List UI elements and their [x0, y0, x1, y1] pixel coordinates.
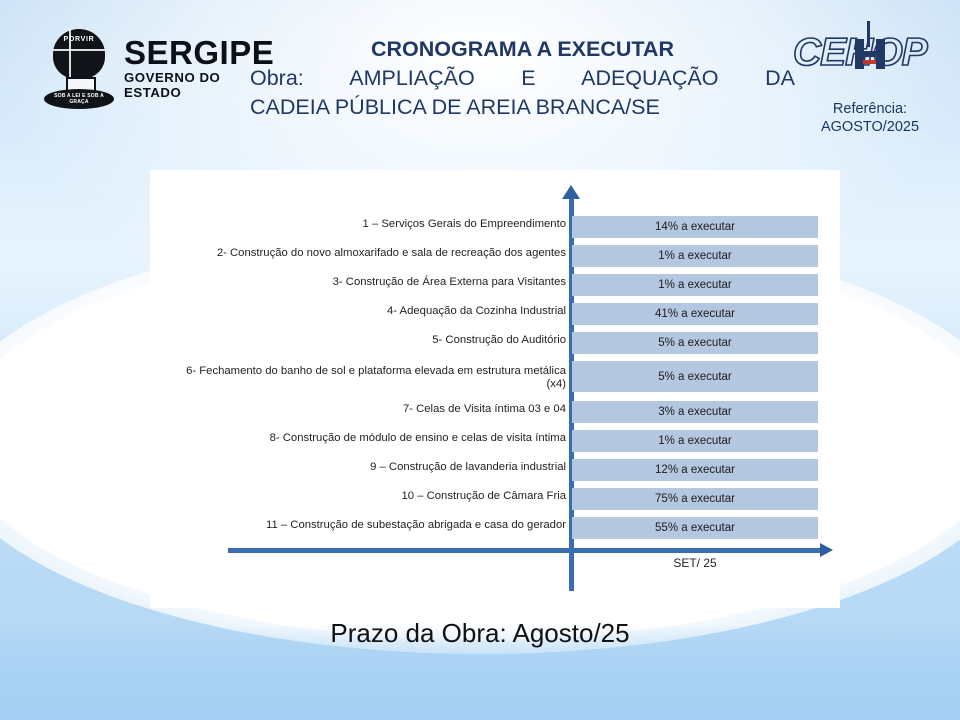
chart-row-label: 1 – Serviços Gerais do Empreendimento [166, 214, 566, 231]
prazo-da-obra-text: Prazo da Obra: Agosto/25 [0, 618, 960, 649]
hot-air-balloon-icon: PORVIR SOB A LEI E SOB A GRAÇA [42, 27, 116, 109]
chart-row-bar: 41% a executar [572, 303, 818, 325]
chart-row-bar: 75% a executar [572, 488, 818, 510]
chart-row-value-label: 75% a executar [655, 493, 735, 505]
chart-row: 10 – Construção de Câmara Fria75% a exec… [150, 486, 840, 515]
chart-row-label: 5- Construção do Auditório [166, 330, 566, 347]
chart-row-bar: 1% a executar [572, 245, 818, 267]
chart-row: 4- Adequação da Cozinha Industrial41% a … [150, 301, 840, 330]
chart-row-bar: 3% a executar [572, 401, 818, 423]
slide-header: PORVIR SOB A LEI E SOB A GRAÇA SERGIPE G… [0, 0, 960, 160]
chart-row-bar: 1% a executar [572, 430, 818, 452]
chart-row-bar: 14% a executar [572, 216, 818, 238]
chart-row-bar: 5% a executar [572, 332, 818, 354]
referencia-block: Referência: AGOSTO/2025 [790, 100, 950, 136]
chart-row-label: 2- Construção do novo almoxarifado e sal… [166, 243, 566, 260]
balloon-seam-horizontal [53, 49, 105, 51]
obra-title-line1: Obra: AMPLIAÇÃO E ADEQUAÇÃO DA [250, 64, 795, 93]
chart-row: 3- Construção de Área Externa para Visit… [150, 272, 840, 301]
chart-row-value-label: 1% a executar [658, 279, 732, 291]
chart-card: 1 – Serviços Gerais do Empreendimento14%… [150, 170, 840, 608]
obra-title-line2: CADEIA PÚBLICA DE AREIA BRANCA/SE [250, 93, 795, 122]
chart-row: 11 – Construção de subestação abrigada e… [150, 515, 840, 544]
chart-row-value-label: 41% a executar [655, 308, 735, 320]
page-title: CRONOGRAMA A EXECUTAR [250, 36, 795, 63]
chart-row-label: 4- Adequação da Cozinha Industrial [166, 301, 566, 318]
sergipe-government-logo: PORVIR SOB A LEI E SOB A GRAÇA SERGIPE G… [42, 26, 234, 110]
cehop-logo: CEHOP [793, 31, 941, 77]
chart-row-label: 10 – Construção de Câmara Fria [166, 486, 566, 503]
x-axis-arrow-icon [820, 543, 833, 557]
chart-plot-area: 1 – Serviços Gerais do Empreendimento14%… [150, 170, 840, 608]
chart-row-label: 7- Celas de Visita íntima 03 e 04 [166, 399, 566, 416]
slide-root: PORVIR SOB A LEI E SOB A GRAÇA SERGIPE G… [0, 0, 960, 720]
chart-row-value-label: 1% a executar [658, 435, 732, 447]
chart-row: 5- Construção do Auditório5% a executar [150, 330, 840, 359]
balloon-motto-text: PORVIR [59, 36, 99, 43]
x-axis-tick-label: SET/ 25 [572, 556, 818, 570]
chart-row-label: 3- Construção de Área Externa para Visit… [166, 272, 566, 289]
chart-row-value-label: 1% a executar [658, 250, 732, 262]
cehop-mast-icon [867, 21, 870, 47]
chart-row-bar: 55% a executar [572, 517, 818, 539]
cehop-red-accent [863, 60, 876, 64]
chart-rows: 1 – Serviços Gerais do Empreendimento14%… [150, 214, 840, 544]
chart-row-value-label: 5% a executar [658, 337, 732, 349]
chart-row-bar: 5% a executar [572, 361, 818, 392]
chart-row-bar: 12% a executar [572, 459, 818, 481]
referencia-label: Referência: [790, 100, 950, 118]
y-axis-arrow-icon [562, 185, 580, 199]
chart-row: 1 – Serviços Gerais do Empreendimento14%… [150, 214, 840, 243]
cehop-h-crossbar [855, 51, 885, 57]
chart-row-label: 8- Construção de módulo de ensino e cela… [166, 428, 566, 445]
chart-row-label: 6- Fechamento do banho de sol e platafor… [166, 359, 566, 392]
x-axis-line [228, 548, 823, 553]
chart-row-bar: 1% a executar [572, 274, 818, 296]
chart-row: 9 – Construção de lavanderia industrial1… [150, 457, 840, 486]
title-block: CRONOGRAMA A EXECUTAR Obra: AMPLIAÇÃO E … [250, 36, 795, 122]
chart-row-value-label: 12% a executar [655, 464, 735, 476]
chart-row: 2- Construção do novo almoxarifado e sal… [150, 243, 840, 272]
chart-row-label: 9 – Construção de lavanderia industrial [166, 457, 566, 474]
chart-row-value-label: 3% a executar [658, 406, 732, 418]
chart-row: 8- Construção de módulo de ensino e cela… [150, 428, 840, 457]
chart-row-value-label: 14% a executar [655, 221, 735, 233]
chart-row: 6- Fechamento do banho de sol e platafor… [150, 359, 840, 399]
chart-row-value-label: 5% a executar [658, 371, 732, 383]
logo-ring-text: SOB A LEI E SOB A GRAÇA [48, 93, 110, 105]
chart-row-value-label: 55% a executar [655, 522, 735, 534]
chart-row: 7- Celas de Visita íntima 03 e 043% a ex… [150, 399, 840, 428]
chart-row-label: 11 – Construção de subestação abrigada e… [166, 515, 566, 532]
referencia-value: AGOSTO/2025 [790, 118, 950, 136]
